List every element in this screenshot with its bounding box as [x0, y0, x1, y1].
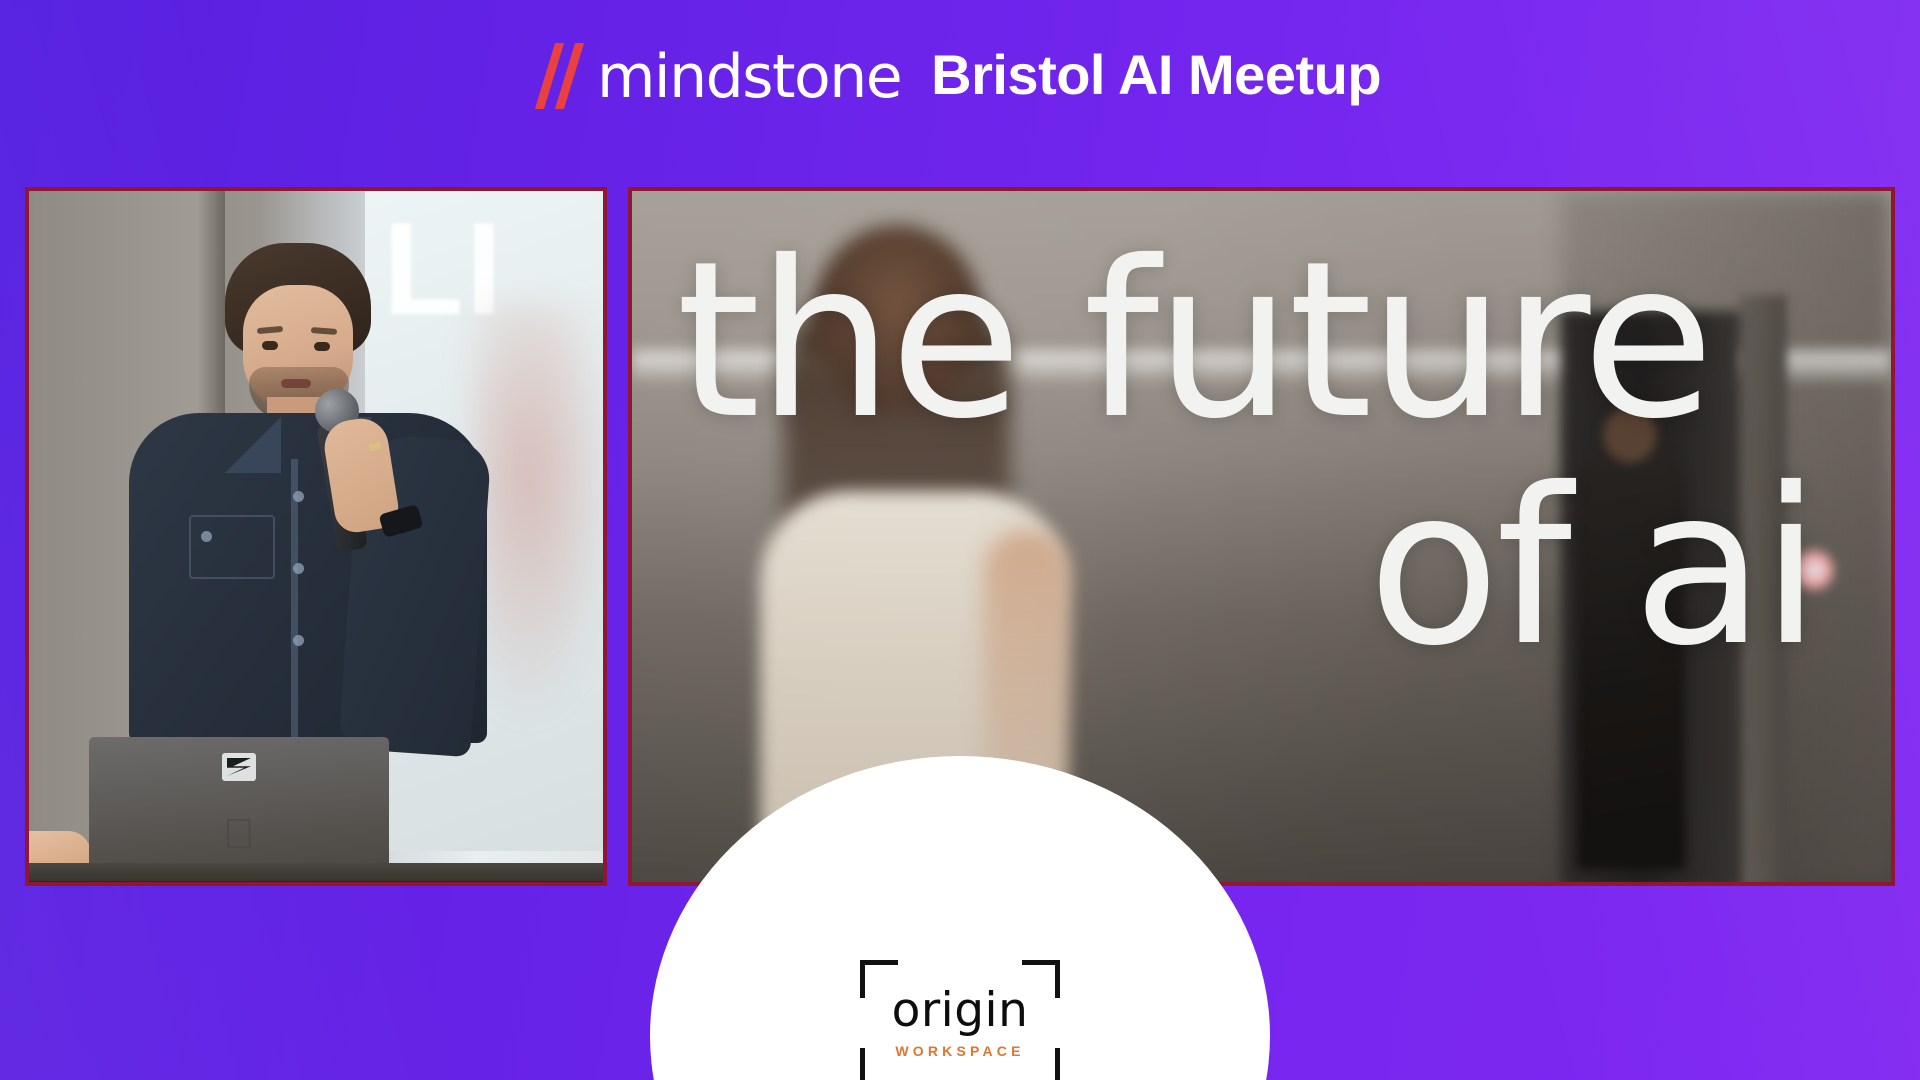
speaker-mouth: [281, 379, 311, 388]
shirt-button: [293, 635, 304, 646]
header-bar: mindstone Bristol AI Meetup: [0, 0, 1920, 148]
shirt-pocket: [189, 515, 275, 579]
event-title: Bristol AI Meetup: [931, 47, 1381, 103]
slide-overlay-text: the future of ai: [632, 191, 1891, 882]
bracket-top-left-icon: [860, 960, 898, 998]
speaker-eye-left: [262, 341, 278, 350]
speaker-video-media: LI: [29, 191, 603, 882]
overlay-headline-line-2: of ai: [1368, 464, 1817, 671]
apple-logo-icon: : [223, 813, 255, 855]
shirt-button: [293, 563, 304, 574]
brand-wordmark: mindstone: [597, 47, 901, 107]
shirt-button: [293, 491, 304, 502]
bracket-bottom-right-icon: [1022, 1048, 1060, 1080]
origin-wordmark: origin: [892, 987, 1029, 1034]
macbook-laptop: : [89, 737, 389, 882]
speaker-shirt-placket: [291, 459, 298, 749]
projection-glow: [469, 303, 603, 733]
speaker-eye-right: [314, 342, 330, 351]
double-slash-icon: [539, 43, 591, 109]
lectern-top: [29, 863, 603, 882]
speaker-scene: LI: [29, 191, 603, 882]
presentation-video-media: the future of ai: [632, 191, 1891, 882]
overlay-headline-line-1: the future: [676, 237, 1711, 444]
laptop-sticker: [222, 753, 256, 781]
slide-stage: mindstone Bristol AI Meetup LI: [0, 0, 1920, 1080]
bracket-bottom-left-icon: [860, 1048, 898, 1080]
lectern: [29, 881, 603, 882]
origin-workspace-logo: origin WORKSPACE: [860, 960, 1060, 1080]
origin-subtitle: WORKSPACE: [895, 1043, 1024, 1059]
pocket-button: [201, 531, 212, 542]
presentation-video-panel[interactable]: the future of ai: [628, 187, 1895, 886]
bracket-top-right-icon: [1022, 960, 1060, 998]
mindstone-brand-lockup: mindstone: [539, 43, 901, 109]
speaker-collar-left: [225, 417, 281, 473]
speaker-video-panel[interactable]: LI: [25, 187, 607, 886]
